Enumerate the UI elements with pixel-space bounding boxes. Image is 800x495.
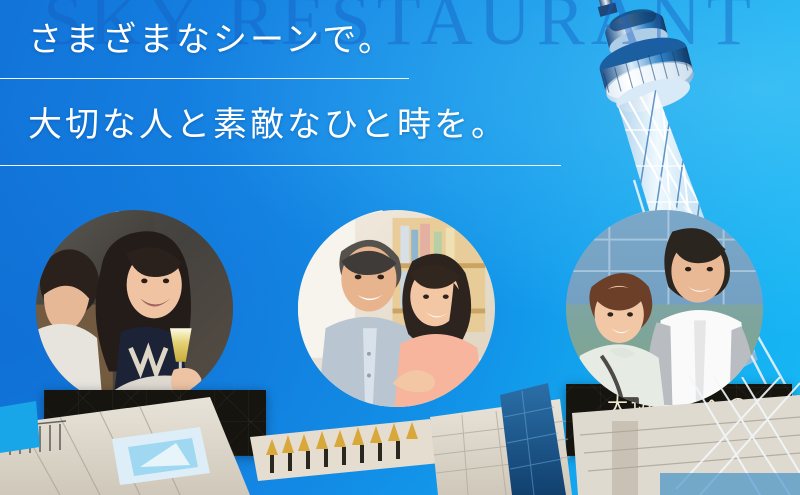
headline-block: さまざまなシーンで。 大切な人と素敵なひと時を。 [0, 24, 640, 166]
building-photo-band [0, 377, 800, 495]
headline-line-1: さまざまなシーンで。 [0, 24, 640, 58]
sky-restaurant-banner: SKY RESTAURANT さまざまなシーンで。 大切な人と素敵なひと時を。 [0, 0, 800, 495]
headline-divider-2 [0, 165, 561, 166]
headline-line-2: 大切な人と素敵なひと時を。 [0, 109, 640, 143]
headline-divider-1 [0, 78, 409, 79]
